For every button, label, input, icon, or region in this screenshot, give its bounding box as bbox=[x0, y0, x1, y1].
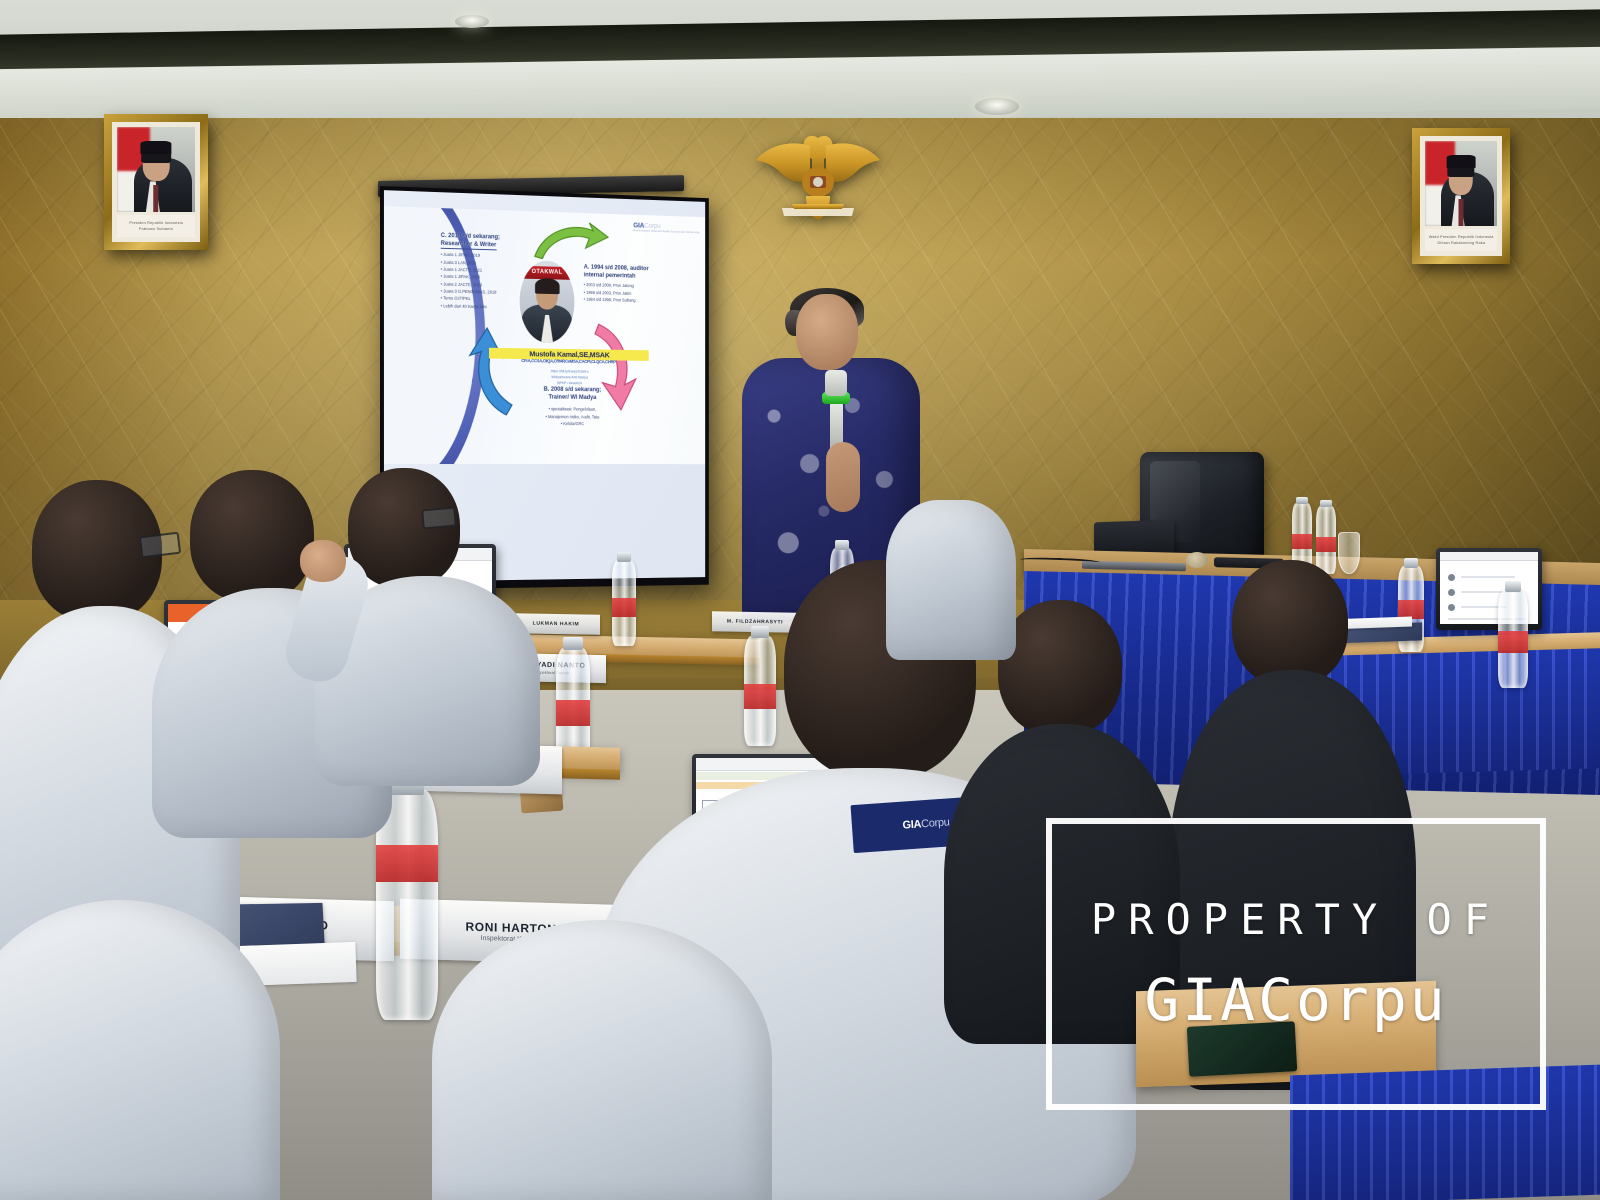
block-c-heading-2: Researcher & Writer bbox=[441, 240, 497, 251]
slide-speaker-photo: OTAKWAL bbox=[520, 260, 575, 343]
block-a-heading-1: A. 1994 s/d 2008, auditor bbox=[584, 265, 649, 273]
block-a-heading-2: internal pemerintah bbox=[584, 272, 636, 279]
slide-speaker-sublines: https://bit.ly/KaryaTulisKu Widyaiswara … bbox=[499, 368, 640, 388]
list-item: Kelola/GRC bbox=[518, 420, 627, 428]
table-skirt-foreground bbox=[1290, 1065, 1600, 1200]
nameplate-name: LUKMAN HAKIM bbox=[533, 621, 580, 627]
slide-logo-tagline: Government Internal Audit Corporate Univ… bbox=[633, 229, 700, 234]
portrait-caption-line2: Prabowo Subianto bbox=[139, 227, 173, 231]
slide-block-b: B. 2008 s/d sekarang; Trainer/ WI Madya … bbox=[518, 386, 627, 428]
list-item: 1994 s/d 1998, Prov Subang bbox=[584, 296, 687, 305]
presenter-head bbox=[796, 294, 858, 370]
presenter-arm bbox=[826, 442, 860, 512]
official-portrait-left: Presiden Republik Indonesia Prabowo Subi… bbox=[104, 114, 208, 250]
presentation-slide: GIACorpu Government Internal Audit Corpo… bbox=[384, 206, 705, 464]
mousepad bbox=[1187, 1021, 1297, 1077]
block-b-heading-1: B. 2008 s/d sekarang; bbox=[544, 387, 602, 393]
official-portrait-right: Wakil Presiden Republik Indonesia Gibran… bbox=[1412, 128, 1510, 264]
water-bottle-large bbox=[376, 790, 438, 1020]
microphone-head-icon bbox=[825, 370, 847, 396]
portrait-image bbox=[1425, 141, 1497, 226]
slide-block-a: A. 1994 s/d 2008, auditor internal pemer… bbox=[584, 264, 687, 305]
block-b-list: spesialisasi: Pengelolaan, Manajemen ris… bbox=[518, 405, 627, 427]
block-b-heading-2: Trainer/ WI Madya bbox=[549, 395, 597, 401]
portrait-caption: Wakil Presiden Republik Indonesia Gibran… bbox=[1425, 229, 1497, 251]
portrait-caption-line1: Wakil Presiden Republik Indonesia bbox=[1429, 235, 1494, 239]
training-room-photo: Presiden Republik Indonesia Prabowo Subi… bbox=[0, 0, 1600, 1200]
participant-3 bbox=[336, 468, 516, 758]
ceiling-downlight-icon bbox=[455, 15, 489, 28]
participant-hand bbox=[300, 540, 346, 582]
green-arrow-icon bbox=[531, 219, 610, 264]
lanyard-brand-bold: GIA bbox=[902, 818, 921, 831]
slide-giacorpu-logo: GIACorpu Government Internal Audit Corpo… bbox=[633, 222, 700, 234]
portrait-caption-line1: Presiden Republik Indonesia bbox=[129, 221, 183, 225]
garuda-pancasila-icon bbox=[748, 122, 888, 226]
ceiling-downlight-icon bbox=[975, 98, 1019, 115]
participant-bottom-left bbox=[0, 900, 280, 1200]
ceiling bbox=[0, 0, 1600, 132]
block-a-list: 2003 s/d 2008, Prov Jateng 1998 s/d 2003… bbox=[584, 281, 687, 305]
water-bottle bbox=[1498, 590, 1528, 688]
eyeglasses-icon bbox=[421, 507, 457, 530]
portrait-image bbox=[117, 127, 195, 212]
portrait-caption: Presiden Republik Indonesia Prabowo Subi… bbox=[117, 215, 195, 237]
portrait-caption-line2: Gibran Rakabuming Raka bbox=[1437, 241, 1485, 245]
participant-bottom-center bbox=[432, 920, 772, 1200]
participant-behind-presenter bbox=[886, 500, 1016, 680]
